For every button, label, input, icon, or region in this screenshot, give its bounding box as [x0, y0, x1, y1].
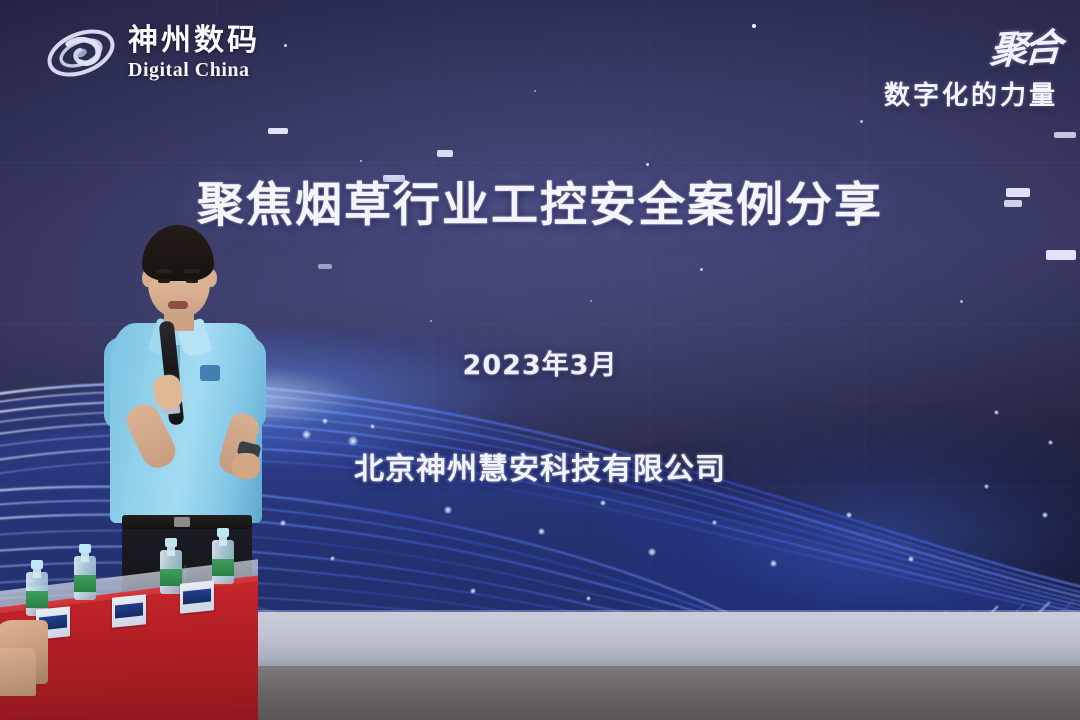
speaker-hair [142, 225, 214, 281]
brand-right-tagline: 数字化的力量 [884, 75, 1058, 112]
speaker-brow-right [184, 269, 200, 273]
particle-dot [752, 24, 756, 28]
bottle-label [26, 591, 48, 608]
bottle-cap [217, 528, 229, 537]
brand-left-name-cn: 神州数码 [128, 26, 260, 56]
conference-stage-photo: 聚焦烟草行业工控安全案例分享 2023年3月 北京神州慧安科技有限公司 神州数码 [0, 0, 1080, 720]
name-card-band [115, 603, 143, 619]
speaker-eye-left [158, 279, 170, 283]
brand-logo-left: 神州数码 Digital China [44, 22, 260, 84]
particle-dot [284, 44, 287, 47]
brand-left-name-en: Digital China [128, 60, 260, 80]
particle-dash [437, 150, 453, 157]
water-bottle [74, 544, 96, 600]
brand-right-calligraphy-wrap: 聚合 [884, 18, 1058, 73]
particle-dot [700, 268, 703, 271]
brand-logo-right: 聚合 数字化的力量 [884, 18, 1058, 112]
bottle-cap [165, 538, 177, 547]
name-card [112, 594, 146, 628]
bottle-cap [31, 560, 43, 569]
water-bottle [212, 528, 234, 584]
bottle-neck [33, 568, 41, 578]
particle-dot [534, 90, 536, 92]
particle-dot [590, 300, 592, 302]
digital-china-spiral-logo-icon [44, 22, 118, 84]
bottle-cap [79, 544, 91, 553]
particle-dot [960, 300, 963, 303]
water-bottle [160, 538, 182, 594]
name-card [180, 580, 214, 614]
bottle-neck [167, 546, 175, 556]
name-card-band [183, 589, 211, 605]
brand-right-calligraphy: 聚合 [988, 16, 1059, 74]
particle-dash [268, 128, 288, 134]
bottle-neck [219, 536, 227, 546]
led-panel-seam [0, 162, 1080, 163]
speaker-eye-right [186, 279, 198, 283]
speaker-brow-left [156, 269, 172, 273]
slide-title: 聚焦烟草行业工控安全案例分享 [0, 182, 1080, 229]
particle-dot [860, 120, 863, 123]
bottle-label [212, 559, 234, 576]
speaker-shirt-emblem-icon [200, 365, 220, 381]
bottle-neck [81, 552, 89, 562]
speaker-hand-right [232, 453, 260, 479]
particle-dash [1054, 132, 1076, 138]
particle-dash [318, 264, 332, 269]
bottle-label [160, 569, 182, 586]
bottle-label [74, 575, 96, 592]
water-bottle [26, 560, 48, 616]
brand-left-wordmark: 神州数码 Digital China [128, 26, 260, 80]
particle-dash [1046, 250, 1076, 260]
seated-attendee-arm [0, 648, 36, 696]
speaker-mouth [168, 301, 188, 309]
speaker-belt-buckle [174, 517, 190, 527]
